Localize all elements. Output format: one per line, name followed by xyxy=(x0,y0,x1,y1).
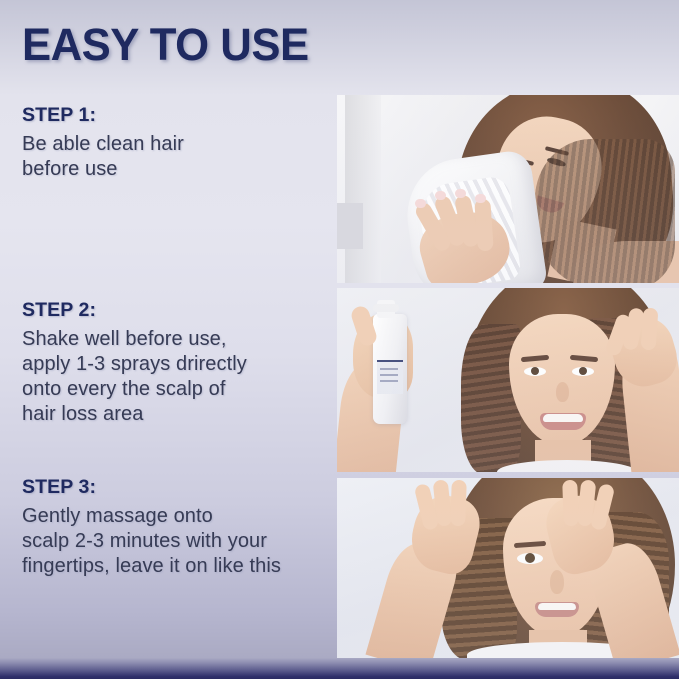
fingernail xyxy=(435,191,446,200)
bottle-label-line xyxy=(380,380,398,382)
step-1-text-block: STEP 1: Be able clean hair before use xyxy=(22,104,332,182)
step-3-body: Gently massage onto scalp 2-3 minutes wi… xyxy=(22,504,332,579)
step-1-photo-scene xyxy=(337,95,679,283)
step-2-text-block: STEP 2: Shake well before use, apply 1-3… xyxy=(22,299,332,427)
bottle-label xyxy=(377,360,403,394)
pupil-left xyxy=(525,553,535,563)
step-2-heading: STEP 2: xyxy=(22,299,332,322)
step-3-text-block: STEP 3: Gently massage onto scalp 2-3 mi… xyxy=(22,476,332,579)
step-3-photo xyxy=(337,478,679,658)
easy-to-use-infographic: EASY TO USE STEP 1: Be able clean hair b… xyxy=(0,0,679,679)
finger xyxy=(562,480,579,526)
step-1-heading: STEP 1: xyxy=(22,104,332,127)
nose xyxy=(556,382,569,402)
bottom-accent-band xyxy=(0,658,679,679)
spray-nozzle xyxy=(373,304,399,312)
steps-photo-column xyxy=(337,0,679,679)
step-1-photo xyxy=(337,95,679,283)
finger xyxy=(641,308,659,351)
step-2-photo xyxy=(337,288,679,472)
nose xyxy=(550,570,564,594)
bathroom-shelf xyxy=(345,95,381,283)
pupil-left xyxy=(531,367,539,375)
fingernail xyxy=(415,199,426,208)
page-title: EASY TO USE xyxy=(22,19,309,71)
bottle-label-line xyxy=(380,368,398,370)
bottle-label-line xyxy=(380,374,398,376)
step-2-body: Shake well before use, apply 1-3 sprays … xyxy=(22,327,332,427)
step-3-photo-scene xyxy=(337,478,679,658)
hair-strands xyxy=(535,139,675,283)
fingernail xyxy=(475,194,486,203)
fingernail xyxy=(455,189,466,198)
pupil-right xyxy=(579,367,587,375)
step-3-heading: STEP 3: xyxy=(22,476,332,499)
teeth xyxy=(538,603,576,610)
finger xyxy=(450,480,467,526)
teeth xyxy=(543,414,583,422)
step-2-photo-scene xyxy=(337,288,679,472)
bathroom-shelf-lower xyxy=(337,203,363,249)
step-1-body: Be able clean hair before use xyxy=(22,132,332,182)
